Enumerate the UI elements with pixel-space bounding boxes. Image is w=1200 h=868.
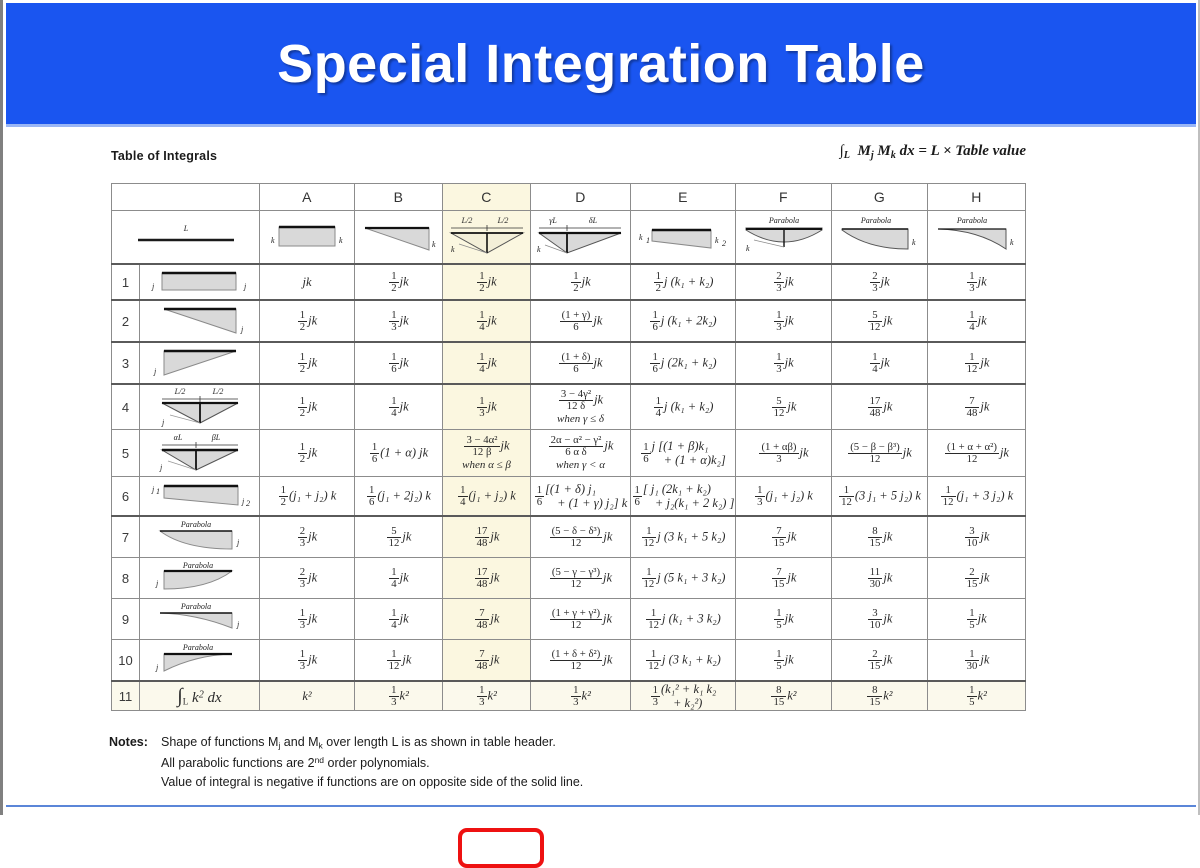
svg-text:Parabola: Parabola <box>859 216 890 225</box>
svg-text:L/2: L/2 <box>461 216 473 225</box>
row-number: 7 <box>112 516 140 558</box>
integral-tail: dx = L × Table value <box>900 143 1026 159</box>
table-diagram-row: L k k <box>112 211 1026 265</box>
cell-5-D: 2α − α² − γ²6 α δjkwhen γ < α <box>531 430 631 477</box>
cell-9-B: 14jk <box>355 599 443 640</box>
svg-text:Parabola: Parabola <box>180 520 211 529</box>
length-line-icon: L <box>116 214 256 260</box>
svg-text:j: j <box>236 538 240 547</box>
cell-7-D: (5 − δ − δ³)12jk <box>531 516 631 558</box>
svg-text:j: j <box>240 325 244 334</box>
cell-3-A: 12jk <box>260 342 355 384</box>
parabola-sag-icon: Parabola k <box>738 214 830 260</box>
cell-10-D: (1 + δ + δ²)12jk <box>531 640 631 682</box>
svg-text:Parabola: Parabola <box>955 216 986 225</box>
svg-text:j: j <box>243 282 247 291</box>
cell-11-D: 13k² <box>531 681 631 711</box>
cell-3-D: (1 + δ)6jk <box>531 342 631 384</box>
row-number: 9 <box>112 599 140 640</box>
cell-7-A: 23jk <box>260 516 355 558</box>
cell-1-A: jk <box>260 264 355 300</box>
cell-4-H: 748jk <box>928 384 1026 430</box>
rectangle-load-icon: k k <box>263 214 351 260</box>
svg-text:L/2: L/2 <box>212 387 224 396</box>
row-number: 1 <box>112 264 140 300</box>
cell-2-A: 12jk <box>260 300 355 342</box>
integral-mj-sub: j <box>871 150 874 161</box>
cell-10-A: 13jk <box>260 640 355 682</box>
header-diagram-f: Parabola k <box>736 211 832 265</box>
header-length-diagram: L <box>112 211 260 265</box>
cell-9-D: (1 + γ + γ²)12jk <box>531 599 631 640</box>
integral-limit-row11: L <box>183 696 189 706</box>
integral-body-row11: k2 dx <box>192 690 222 706</box>
parabola-shape-7-icon: Parabola j <box>140 517 260 557</box>
header-diagram-c: L/2 L/2 k <box>443 211 531 265</box>
integral-mk: M <box>877 143 890 159</box>
banner-underline <box>6 124 1196 127</box>
title-banner: Special Integration Table <box>6 3 1196 124</box>
column-header-g: G <box>832 184 928 211</box>
column-header-c: C <box>443 184 531 211</box>
svg-text:j: j <box>153 367 157 376</box>
cell-4-G: 1748jk <box>832 384 928 430</box>
cell-2-D: (1 + γ)6jk <box>531 300 631 342</box>
cell-11-B: 13k² <box>355 681 443 711</box>
svg-text:γL: γL <box>549 216 557 225</box>
trapezoid-icon: k1 k2 <box>635 214 731 260</box>
cell-7-F: 715jk <box>736 516 832 558</box>
table-row: 11 ∫L k2 dx k² 13k² 13k² 13k² 13(k₁² + k… <box>112 681 1026 711</box>
svg-text:βL: βL <box>211 433 221 442</box>
row-shape-11: ∫L k2 dx <box>140 681 260 711</box>
table-row: 3 j 12jk 16jk 14jk (1 + δ)6jk 16j (2k₁ +… <box>112 342 1026 384</box>
notes-block: Notes: Shape of functions Mj and Mk over… <box>109 735 583 794</box>
row-shape-10: Parabola j <box>140 640 260 682</box>
svg-text:k: k <box>715 236 719 245</box>
triangle-down-right-icon: j <box>140 301 260 341</box>
svg-text:j: j <box>155 579 159 588</box>
cell-3-H: 112jk <box>928 342 1026 384</box>
column-header-e: E <box>631 184 736 211</box>
integral-subscript: L <box>844 150 850 161</box>
cell-6-H: 112(j₁ + 3 j₂) k <box>928 477 1026 517</box>
integral-mj: M <box>857 143 870 159</box>
cell-1-H: 13jk <box>928 264 1026 300</box>
table-row: 7 Parabola j 23jk 512jk 1748jk (5 − δ − … <box>112 516 1026 558</box>
svg-text:k: k <box>271 236 275 245</box>
cell-1-G: 23jk <box>832 264 928 300</box>
svg-text:L: L <box>182 224 188 233</box>
cell-10-B: 112jk <box>355 640 443 682</box>
row-shape-7: Parabola j <box>140 516 260 558</box>
svg-text:k: k <box>339 236 343 245</box>
cell-4-E: 14j (k₁ + k₂) <box>631 384 736 430</box>
cell-3-G: 14jk <box>832 342 928 384</box>
header-diagram-h: Parabola k <box>928 211 1026 265</box>
parabola-left-icon: Parabola k <box>834 214 926 260</box>
cell-7-C: 1748jk <box>443 516 531 558</box>
cell-10-E: 112j (3 k₁ + k₂) <box>631 640 736 682</box>
cell-6-B: 16(j₁ + 2j₂) k <box>355 477 443 517</box>
svg-text:k: k <box>746 244 750 253</box>
cell-4-C: 13jk <box>443 384 531 430</box>
column-header-h: H <box>928 184 1026 211</box>
row-shape-3: j <box>140 342 260 384</box>
vee-center-shape-icon: L/2 L/2 j <box>140 385 260 429</box>
cell-9-E: 112j (k₁ + 3 k₂) <box>631 599 736 640</box>
integral-formula: ∫L Mj Mk dx = L × Table value <box>840 143 1026 161</box>
svg-text:k: k <box>912 238 916 247</box>
svg-text:Parabola: Parabola <box>180 602 211 611</box>
table-row: 5 αL βL j <box>112 430 1026 477</box>
trapezoid-shape-icon: j1 j2 <box>140 477 260 515</box>
svg-text:j: j <box>151 282 155 291</box>
slide-root: Special Integration Table Table of Integ… <box>0 0 1200 815</box>
header-diagram-a: k k <box>260 211 355 265</box>
cell-6-G: 112(3 j₁ + 5 j₂) k <box>832 477 928 517</box>
svg-text:1: 1 <box>156 487 160 496</box>
column-header-b: B <box>355 184 443 211</box>
svg-text:j: j <box>241 497 245 506</box>
table-sheet: Table of Integrals ∫L Mj Mk dx = L × Tab… <box>3 131 1198 803</box>
cell-1-F: 23jk <box>736 264 832 300</box>
cell-10-C: 748jk <box>443 640 531 682</box>
cell-3-C: 14jk <box>443 342 531 384</box>
row-shape-5: αL βL j <box>140 430 260 477</box>
cell-4-F: 512jk <box>736 384 832 430</box>
cell-10-G: 215jk <box>832 640 928 682</box>
cell-10-H: 130jk <box>928 640 1026 682</box>
cell-8-B: 14jk <box>355 558 443 599</box>
cell-3-E: 16j (2k₁ + k₂) <box>631 342 736 384</box>
parabola-right-icon: Parabola k <box>930 214 1024 260</box>
cell-6-A: 12(j₁ + j₂) k <box>260 477 355 517</box>
vee-offset-icon: γL δL k <box>531 214 631 260</box>
svg-text:1: 1 <box>646 236 650 245</box>
cell-5-A: 12jk <box>260 430 355 477</box>
svg-text:j: j <box>159 463 163 472</box>
cell-6-C: 14(j₁ + j₂) k <box>443 477 531 517</box>
cell-5-F: (1 + αβ)3jk <box>736 430 832 477</box>
cell-11-C: 13k² <box>443 681 531 711</box>
cell-1-D: 12jk <box>531 264 631 300</box>
notes-text-2: All parabolic functions are 2nd order po… <box>161 755 430 770</box>
svg-text:δL: δL <box>589 216 598 225</box>
row-number: 11 <box>112 681 140 711</box>
cell-8-E: 112j (5 k₁ + 3 k₂) <box>631 558 736 599</box>
svg-text:αL: αL <box>174 433 183 442</box>
svg-text:L/2: L/2 <box>497 216 509 225</box>
page-title: Special Integration Table <box>277 33 925 95</box>
cell-7-E: 112j (3 k₁ + 5 k₂) <box>631 516 736 558</box>
header-blank <box>112 184 260 211</box>
row-number: 2 <box>112 300 140 342</box>
table-row: 9 Parabola j 13jk 14jk 748jk (1 + γ + γ²… <box>112 599 1026 640</box>
svg-text:k: k <box>432 240 436 249</box>
cell-11-F: 815k² <box>736 681 832 711</box>
highlighted-cell-box <box>458 828 544 868</box>
cell-8-H: 215jk <box>928 558 1026 599</box>
cell-7-B: 512jk <box>355 516 443 558</box>
row-number: 8 <box>112 558 140 599</box>
svg-text:2: 2 <box>246 499 250 508</box>
svg-text:2: 2 <box>722 239 726 248</box>
row-number: 10 <box>112 640 140 682</box>
cell-7-H: 310jk <box>928 516 1026 558</box>
parabola-shape-9-icon: Parabola j <box>140 599 260 639</box>
cell-5-B: 16(1 + α) jk <box>355 430 443 477</box>
cell-5-C: 3 − 4α²12 βjkwhen α ≤ β <box>443 430 531 477</box>
table-row: 1 jj jk 12jk 12jk 12jk 12j (k₁ + k₂) 23j… <box>112 264 1026 300</box>
cell-9-C: 748jk <box>443 599 531 640</box>
cell-9-A: 13jk <box>260 599 355 640</box>
header-diagram-b: k <box>355 211 443 265</box>
cell-11-G: 815k² <box>832 681 928 711</box>
cell-4-D: 3 − 4γ²12 δjkwhen γ ≤ δ <box>531 384 631 430</box>
cell-5-G: (5 − β − β³)12jk <box>832 430 928 477</box>
cell-9-F: 15jk <box>736 599 832 640</box>
vee-center-icon: L/2 L/2 k <box>443 214 531 260</box>
svg-text:k: k <box>1010 238 1014 247</box>
integral-mk-sub: k <box>891 150 896 161</box>
integration-table: A B C D E F G H L <box>111 183 1026 711</box>
notes-text-1: Shape of functions Mj and Mk over length… <box>161 735 556 750</box>
cell-10-F: 15jk <box>736 640 832 682</box>
row-shape-9: Parabola j <box>140 599 260 640</box>
cell-6-F: 13(j₁ + j₂) k <box>736 477 832 517</box>
header-diagram-e: k1 k2 <box>631 211 736 265</box>
note-line-1: Notes: Shape of functions Mj and Mk over… <box>109 735 583 750</box>
header-diagram-d: γL δL k <box>531 211 631 265</box>
cell-3-F: 13jk <box>736 342 832 384</box>
cell-8-C: 1748jk <box>443 558 531 599</box>
cell-1-E: 12j (k₁ + k₂) <box>631 264 736 300</box>
bottom-rule <box>6 805 1196 807</box>
svg-text:L/2: L/2 <box>174 387 186 396</box>
note-line-3: Value of integral is negative if functio… <box>109 775 583 789</box>
cell-2-F: 13jk <box>736 300 832 342</box>
table-body: 1 jj jk 12jk 12jk 12jk 12j (k₁ + k₂) 23j… <box>112 264 1026 711</box>
cell-2-G: 512jk <box>832 300 928 342</box>
cell-6-E: 16[ j₁ (2k₁ + k₂)+ j₂(k₁ + 2 k₂) ] <box>631 477 736 517</box>
cell-9-G: 310jk <box>832 599 928 640</box>
cell-7-G: 815jk <box>832 516 928 558</box>
table-caption: Table of Integrals <box>111 149 217 163</box>
rectangle-shape-icon: jj <box>140 265 260 299</box>
row-number: 3 <box>112 342 140 384</box>
cell-2-C: 14jk <box>443 300 531 342</box>
cell-8-G: 1130jk <box>832 558 928 599</box>
row-number: 5 <box>112 430 140 477</box>
row-number: 4 <box>112 384 140 430</box>
row-shape-2: j <box>140 300 260 342</box>
cell-1-B: 12jk <box>355 264 443 300</box>
cell-2-E: 16j (k₁ + 2k₂) <box>631 300 736 342</box>
table-header-row: A B C D E F G H <box>112 184 1026 211</box>
svg-text:j: j <box>161 418 165 427</box>
notes-text-3: Value of integral is negative if functio… <box>161 775 583 789</box>
row-shape-8: Parabola j <box>140 558 260 599</box>
svg-text:k: k <box>639 233 643 242</box>
svg-text:j: j <box>151 485 155 494</box>
cell-11-E: 13(k₁² + k₁ k₂+ k₂²) <box>631 681 736 711</box>
cell-4-A: 12jk <box>260 384 355 430</box>
cell-5-H: (1 + α + α²)12jk <box>928 430 1026 477</box>
cell-9-H: 15jk <box>928 599 1026 640</box>
svg-text:j: j <box>155 663 159 672</box>
row-shape-6: j1 j2 <box>140 477 260 517</box>
cell-11-H: 15k² <box>928 681 1026 711</box>
cell-3-B: 16jk <box>355 342 443 384</box>
cell-2-B: 13jk <box>355 300 443 342</box>
table-row: 8 Parabola j 23jk 14jk 1748jk (5 − γ − γ… <box>112 558 1026 599</box>
cell-8-D: (5 − γ − γ³)12jk <box>531 558 631 599</box>
svg-text:j: j <box>236 620 240 629</box>
column-header-d: D <box>531 184 631 211</box>
svg-text:Parabola: Parabola <box>182 643 213 652</box>
header-diagram-g: Parabola k <box>832 211 928 265</box>
vee-offset-shape-icon: αL βL j <box>140 430 260 476</box>
table-row: 10 Parabola j 13jk 112jk 748jk (1 + δ + … <box>112 640 1026 682</box>
cell-1-C: 12jk <box>443 264 531 300</box>
svg-text:k: k <box>451 245 455 254</box>
cell-4-B: 14jk <box>355 384 443 430</box>
table-row: 6 j1 j2 12(j₁ + j₂) k 16(j₁ + 2j₂) k 14(… <box>112 477 1026 517</box>
column-header-f: F <box>736 184 832 211</box>
cell-2-H: 14jk <box>928 300 1026 342</box>
triangle-up-right-icon: j <box>140 343 260 383</box>
cell-8-A: 23jk <box>260 558 355 599</box>
cell-6-D: 16[(1 + δ) j₁+ (1 + γ) j₂] k <box>531 477 631 517</box>
cell-8-F: 715jk <box>736 558 832 599</box>
cell-11-A: k² <box>260 681 355 711</box>
column-header-a: A <box>260 184 355 211</box>
row-number: 6 <box>112 477 140 517</box>
table-row: 4 L/2 L/2 j <box>112 384 1026 430</box>
parabola-shape-10-icon: Parabola j <box>140 640 260 680</box>
notes-label: Notes: <box>109 735 161 750</box>
svg-text:Parabola: Parabola <box>182 561 213 570</box>
row-shape-4: L/2 L/2 j <box>140 384 260 430</box>
row-shape-1: jj <box>140 264 260 300</box>
cell-5-E: 16j [(1 + β)k₁+ (1 + α)k₂] <box>631 430 736 477</box>
svg-text:k: k <box>537 245 541 254</box>
triangle-right-icon: k <box>357 214 441 260</box>
parabola-shape-8-icon: Parabola j <box>140 558 260 598</box>
svg-text:Parabola: Parabola <box>767 216 798 225</box>
table-row: 2 j 12jk 13jk 14jk (1 + γ)6jk 16j (k₁ + … <box>112 300 1026 342</box>
note-line-2: All parabolic functions are 2nd order po… <box>109 755 583 770</box>
